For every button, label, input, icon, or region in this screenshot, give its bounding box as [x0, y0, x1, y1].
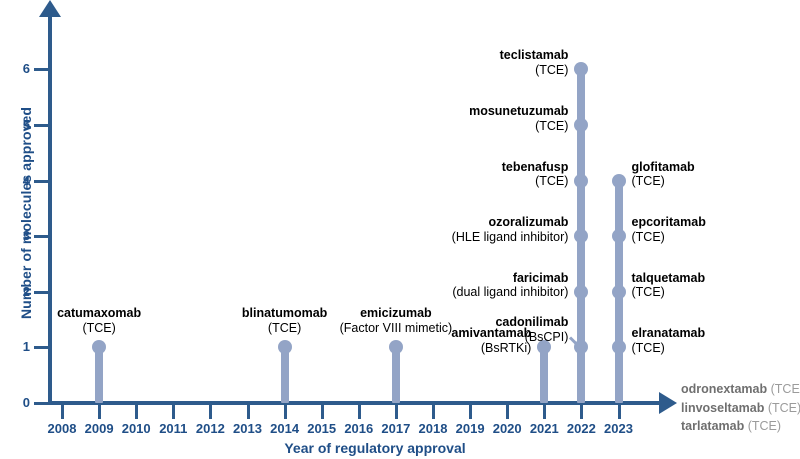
stem-bar: [540, 347, 548, 403]
molecule-name: glofitamab: [632, 160, 695, 175]
y-tick-mark: [34, 124, 48, 127]
molecule-modality: (TCE): [632, 341, 706, 356]
y-tick-label: 3: [0, 229, 30, 242]
x-tick-mark: [172, 405, 175, 419]
data-point-dot[interactable]: [574, 285, 588, 299]
data-point-dot[interactable]: [612, 285, 626, 299]
data-point-dot[interactable]: [92, 340, 106, 354]
x-tick-mark: [432, 405, 435, 419]
x-tick-mark: [543, 405, 546, 419]
footnote-item: odronextamab (TCE): [681, 380, 800, 399]
y-tick-mark: [34, 402, 48, 405]
data-point-dot[interactable]: [574, 229, 588, 243]
footnote-molecule-name: linvoseltamab: [681, 401, 764, 415]
y-tick-mark: [34, 291, 48, 294]
data-point-dot[interactable]: [612, 229, 626, 243]
x-tick-mark: [358, 405, 361, 419]
molecule-name: teclistamab: [500, 48, 569, 63]
data-point-dot[interactable]: [278, 340, 292, 354]
molecule-name: epcoritamab: [632, 215, 706, 230]
molecule-modality: (HLE ligand inhibitor): [452, 230, 569, 245]
y-tick-label: 2: [0, 285, 30, 298]
data-point-label: talquetamab(TCE): [632, 271, 706, 300]
molecule-name: ozoralizumab: [452, 215, 569, 230]
x-tick-mark: [506, 405, 509, 419]
data-point-dot[interactable]: [389, 340, 403, 354]
x-tick-mark: [98, 405, 101, 419]
data-point-label: mosunetuzumab(TCE): [469, 104, 568, 133]
x-tick-mark: [395, 405, 398, 419]
molecule-modality: (TCE): [469, 119, 568, 134]
data-point-label: teclistamab(TCE): [500, 48, 569, 77]
y-tick-mark: [34, 180, 48, 183]
molecule-name: emicizumab: [286, 306, 506, 321]
molecule-modality: (TCE): [632, 285, 706, 300]
data-point-label: faricimab(dual ligand inhibitor): [452, 271, 568, 300]
data-point-label: epcoritamab(TCE): [632, 215, 706, 244]
data-point-label: glofitamab(TCE): [632, 160, 695, 189]
data-point-label: tebenafusp(TCE): [502, 160, 569, 189]
y-tick-mark: [34, 235, 48, 238]
x-tick-mark: [580, 405, 583, 419]
data-point-dot[interactable]: [612, 340, 626, 354]
data-point-dot[interactable]: [612, 174, 626, 188]
x-axis-line: [48, 401, 661, 405]
molecule-name: faricimab: [452, 271, 568, 286]
y-tick-label: 1: [0, 340, 30, 353]
y-tick-label: 6: [0, 62, 30, 75]
data-point-dot[interactable]: [574, 62, 588, 76]
x-tick-mark: [135, 405, 138, 419]
data-point-dot[interactable]: [574, 118, 588, 132]
molecule-modality: (dual ligand inhibitor): [452, 285, 568, 300]
y-tick-label: 0: [0, 396, 30, 409]
y-tick-mark: [34, 346, 48, 349]
x-tick-mark: [284, 405, 287, 419]
x-tick-mark: [469, 405, 472, 419]
data-point-label: ozoralizumab(HLE ligand inhibitor): [452, 215, 569, 244]
y-tick-mark: [34, 68, 48, 71]
footnote-molecule-modality: (TCE): [748, 419, 781, 433]
data-point-label: cadonilimab(BsCPI): [495, 315, 568, 344]
x-tick-mark: [321, 405, 324, 419]
molecule-name: elranatamab: [632, 326, 706, 341]
x-tick-mark: [61, 405, 64, 419]
y-axis-line: [48, 14, 52, 404]
molecule-name: cadonilimab: [495, 315, 568, 330]
x-axis-arrow-icon: [659, 392, 677, 414]
molecule-modality: (TCE): [632, 230, 706, 245]
x-tick-mark: [209, 405, 212, 419]
y-tick-label: 4: [0, 174, 30, 187]
stem-bar: [392, 347, 400, 403]
molecule-name: talquetamab: [632, 271, 706, 286]
footnote-molecule-name: odronextamab: [681, 382, 767, 396]
data-point-label: elranatamab(TCE): [632, 326, 706, 355]
x-tick-label: 2023: [589, 421, 649, 436]
x-axis-title: Year of regulatory approval: [250, 440, 500, 456]
footnote-molecule-name: tarlatamab: [681, 419, 744, 433]
molecule-name: mosunetuzumab: [469, 104, 568, 119]
molecule-modality: (TCE): [500, 63, 569, 78]
stem-bar: [281, 347, 289, 403]
footnote-item: tarlatamab (TCE): [681, 417, 800, 436]
x-tick-mark: [618, 405, 621, 419]
footnote-legend: odronextamab (TCE)linvoseltamab (TCE)tar…: [681, 380, 800, 436]
footnote-item: linvoseltamab (TCE): [681, 399, 800, 418]
stem-bar: [95, 347, 103, 403]
x-tick-mark: [247, 405, 250, 419]
y-axis-arrow-icon: [39, 0, 61, 17]
molecule-name: tebenafusp: [502, 160, 569, 175]
data-point-dot[interactable]: [574, 174, 588, 188]
molecule-modality: (TCE): [502, 174, 569, 189]
footnote-molecule-modality: (TCE): [771, 382, 800, 396]
chart-canvas: Number of molecules approved 0123456 Yea…: [0, 0, 800, 459]
molecule-modality: (TCE): [632, 174, 695, 189]
y-tick-label: 5: [0, 118, 30, 131]
molecule-modality: (BsCPI): [495, 330, 568, 345]
footnote-molecule-modality: (TCE): [768, 401, 800, 415]
